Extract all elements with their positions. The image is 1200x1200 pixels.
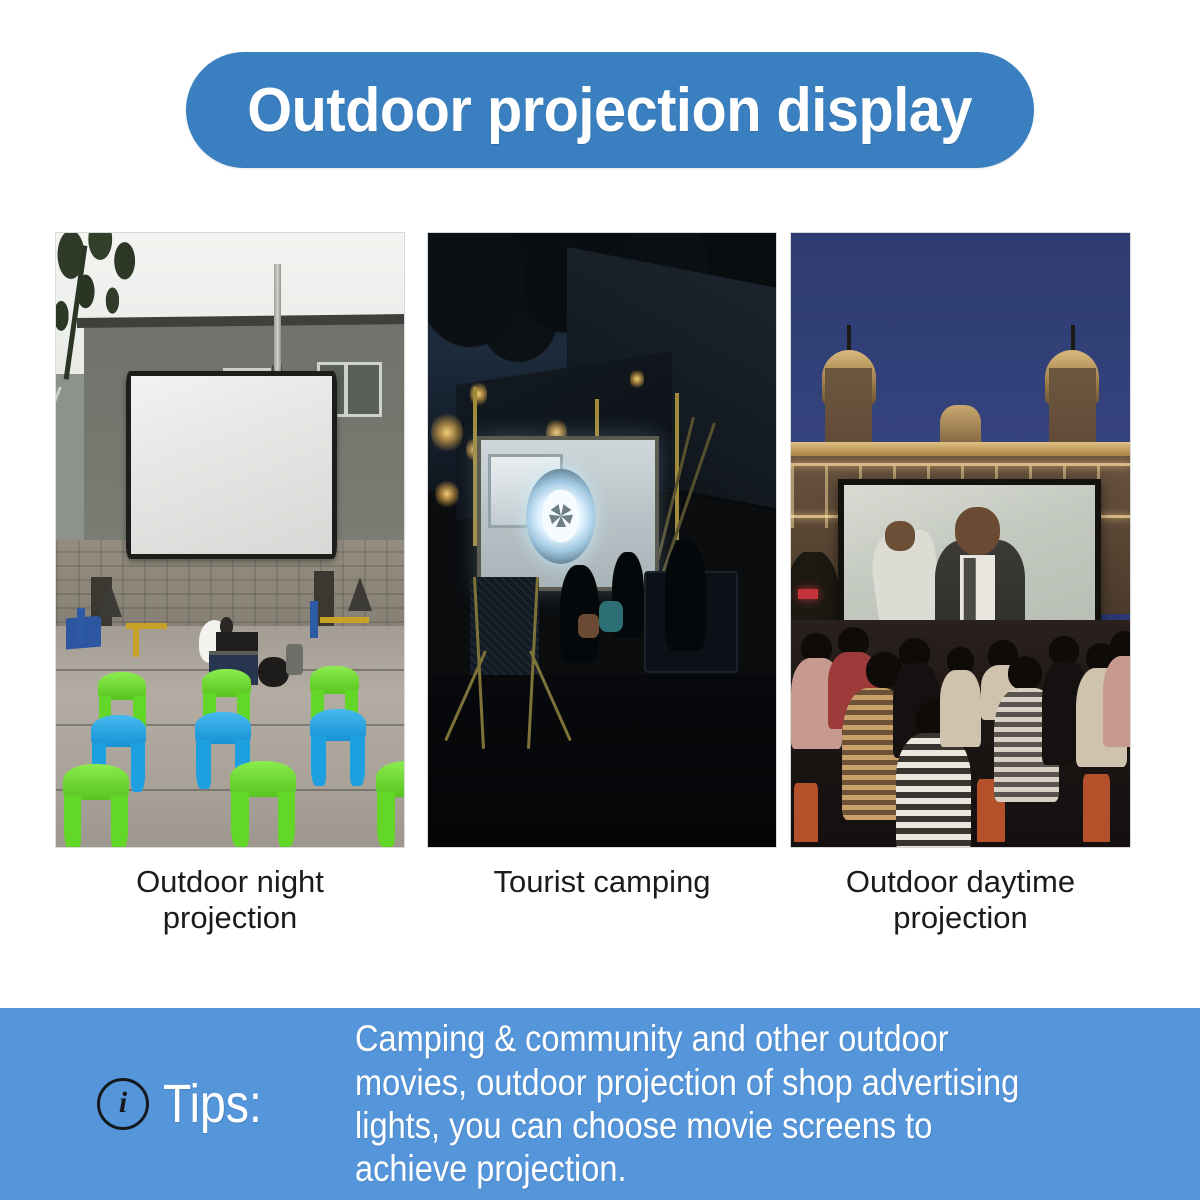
blue-post <box>77 608 85 645</box>
stool <box>310 709 366 786</box>
plastic-chair <box>794 783 818 842</box>
bag <box>258 657 289 688</box>
red-light <box>798 589 818 599</box>
tips-line-4: achieve projection. <box>355 1147 1063 1190</box>
guy-rope <box>55 386 62 529</box>
plastic-chair <box>1083 774 1110 842</box>
page-title: Outdoor projection display <box>248 75 973 146</box>
tips-heading: i Tips: <box>0 1073 355 1135</box>
gallery-item-outdoor-daytime[interactable]: Outdoor daytime projection <box>790 232 1131 936</box>
camping-gear <box>578 614 599 639</box>
info-icon-letter: i <box>119 1088 127 1118</box>
tripod <box>98 583 122 617</box>
tips-line-1: Camping & community and other outdoor <box>355 1017 1063 1060</box>
title-banner: Outdoor projection display <box>186 52 1034 168</box>
caption-line-2: projection <box>55 900 405 936</box>
photo-outdoor-daytime-projection <box>790 232 1131 848</box>
exercise-equipment <box>320 617 369 623</box>
tips-panel: i Tips: Camping & community and other ou… <box>0 1008 1200 1200</box>
photo-gallery: Outdoor night projection <box>0 232 1200 952</box>
tips-text-block: Camping & community and other outdoor mo… <box>355 1017 1200 1190</box>
stool <box>376 761 405 847</box>
kettle <box>286 644 303 675</box>
stool <box>230 761 296 847</box>
audience-head <box>1008 656 1042 690</box>
photo-caption-tourist-camping: Tourist camping <box>427 864 777 900</box>
caption-line-2: projection <box>790 900 1131 936</box>
exercise-equipment <box>133 626 139 657</box>
info-circle-icon: i <box>97 1078 149 1130</box>
photo-caption-outdoor-daytime: Outdoor daytime projection <box>790 864 1131 936</box>
tree-canopy <box>55 232 171 374</box>
tripod <box>348 577 372 611</box>
stool <box>63 764 129 848</box>
audience-crowd <box>791 620 1130 847</box>
facade-lighting <box>791 463 1130 466</box>
palace-cornice <box>791 442 1130 457</box>
tips-line-3: lights, you can choose movie screens to <box>355 1104 1063 1147</box>
string-light <box>431 411 462 454</box>
tips-label: Tips: <box>163 1073 262 1135</box>
window <box>345 362 382 417</box>
photo-caption-outdoor-night: Outdoor night projection <box>55 864 405 936</box>
gallery-item-tourist-camping[interactable]: Tourist camping <box>427 232 777 900</box>
audience-torso <box>1103 656 1131 747</box>
photo-outdoor-night-projection <box>55 232 405 848</box>
audience-torso <box>896 733 971 848</box>
audience-torso <box>940 670 981 747</box>
camper-silhouette <box>665 540 707 651</box>
caption-line-1: Outdoor daytime <box>790 864 1131 900</box>
gallery-item-outdoor-night[interactable]: Outdoor night projection <box>55 232 405 936</box>
tips-line-2: movies, outdoor projection of shop adver… <box>355 1061 1063 1104</box>
blue-post <box>310 601 318 638</box>
camping-gear <box>599 601 623 632</box>
projected-hand <box>885 521 915 550</box>
photo-tourist-camping <box>427 232 777 848</box>
projected-head <box>955 507 1000 555</box>
string-light <box>630 368 644 389</box>
projection-screen <box>126 371 338 559</box>
caption-line-1: Outdoor night <box>55 864 405 900</box>
caption-line-1: Tourist camping <box>427 864 777 900</box>
